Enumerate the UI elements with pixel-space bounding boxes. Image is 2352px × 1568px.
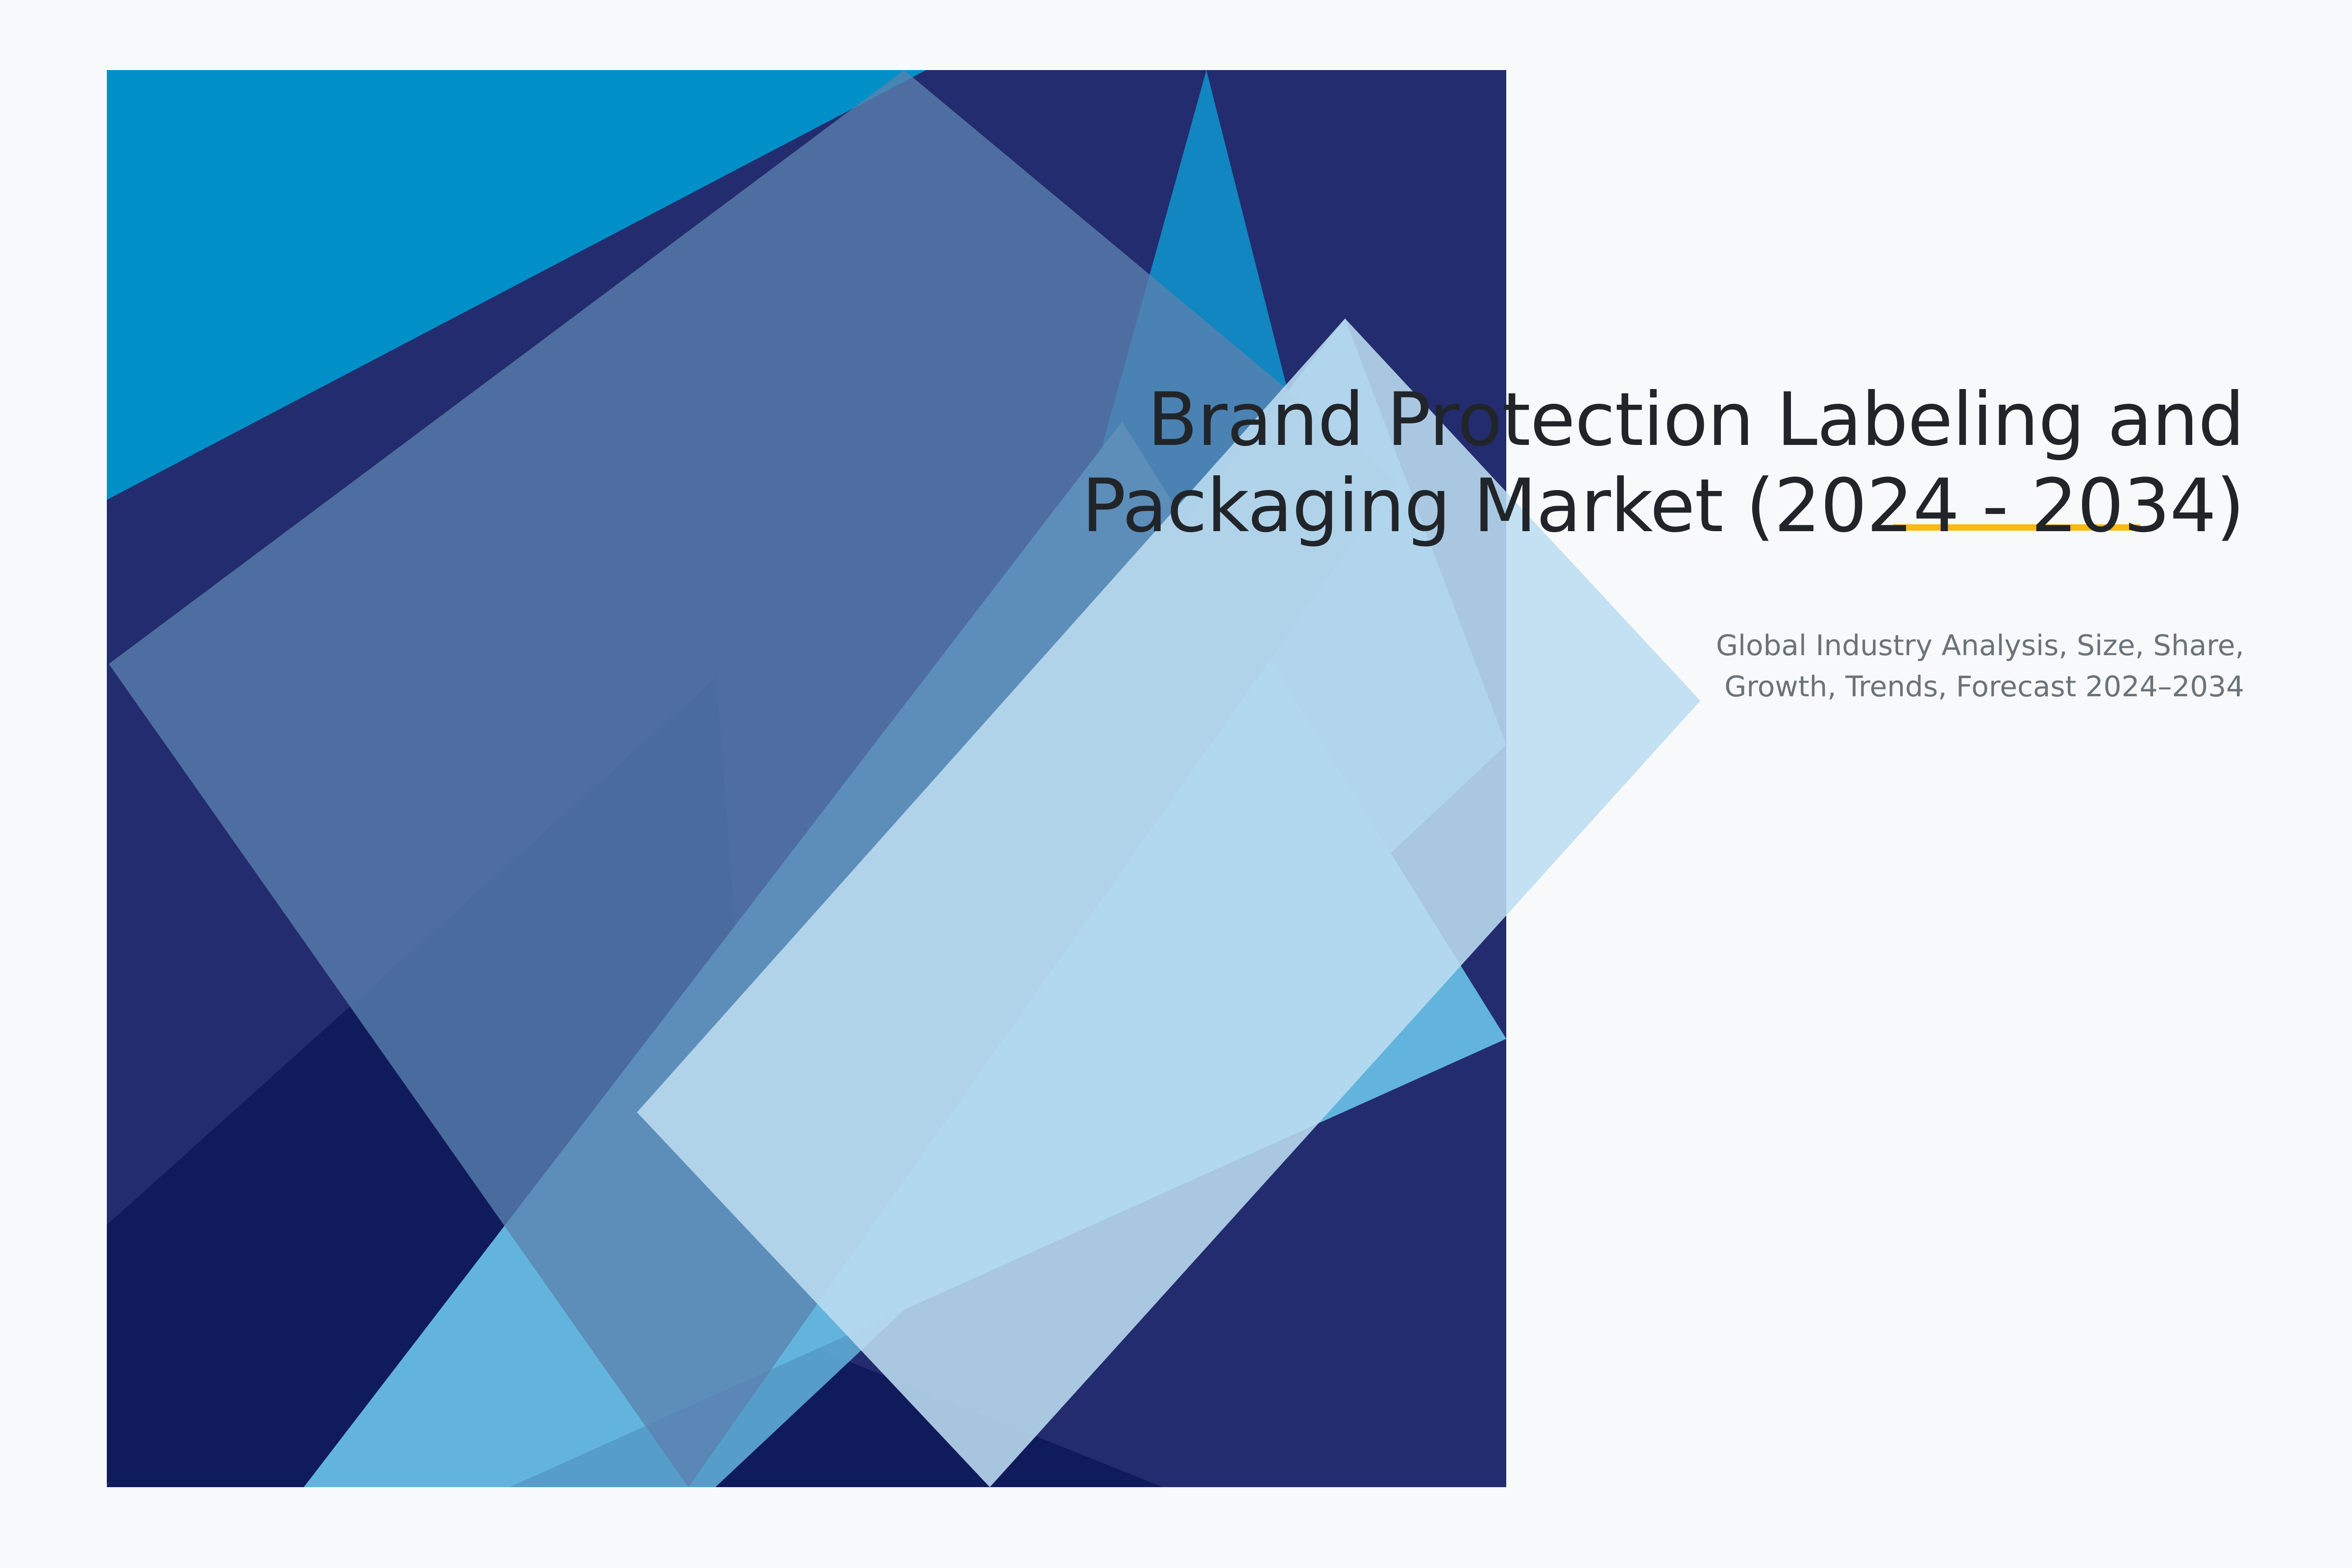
page-title: Brand Protection Labeling and Packaging … bbox=[1029, 377, 2244, 549]
page-subtitle: Global Industry Analysis, Size, Share, G… bbox=[1029, 625, 2244, 707]
title-text-block: Brand Protection Labeling and Packaging … bbox=[1029, 377, 2244, 707]
title-slide: Brand Protection Labeling and Packaging … bbox=[0, 0, 2352, 1568]
title-wrapper: Brand Protection Labeling and Packaging … bbox=[1029, 377, 2244, 549]
abstract-geometric-cover-graphic bbox=[0, 0, 2352, 1568]
